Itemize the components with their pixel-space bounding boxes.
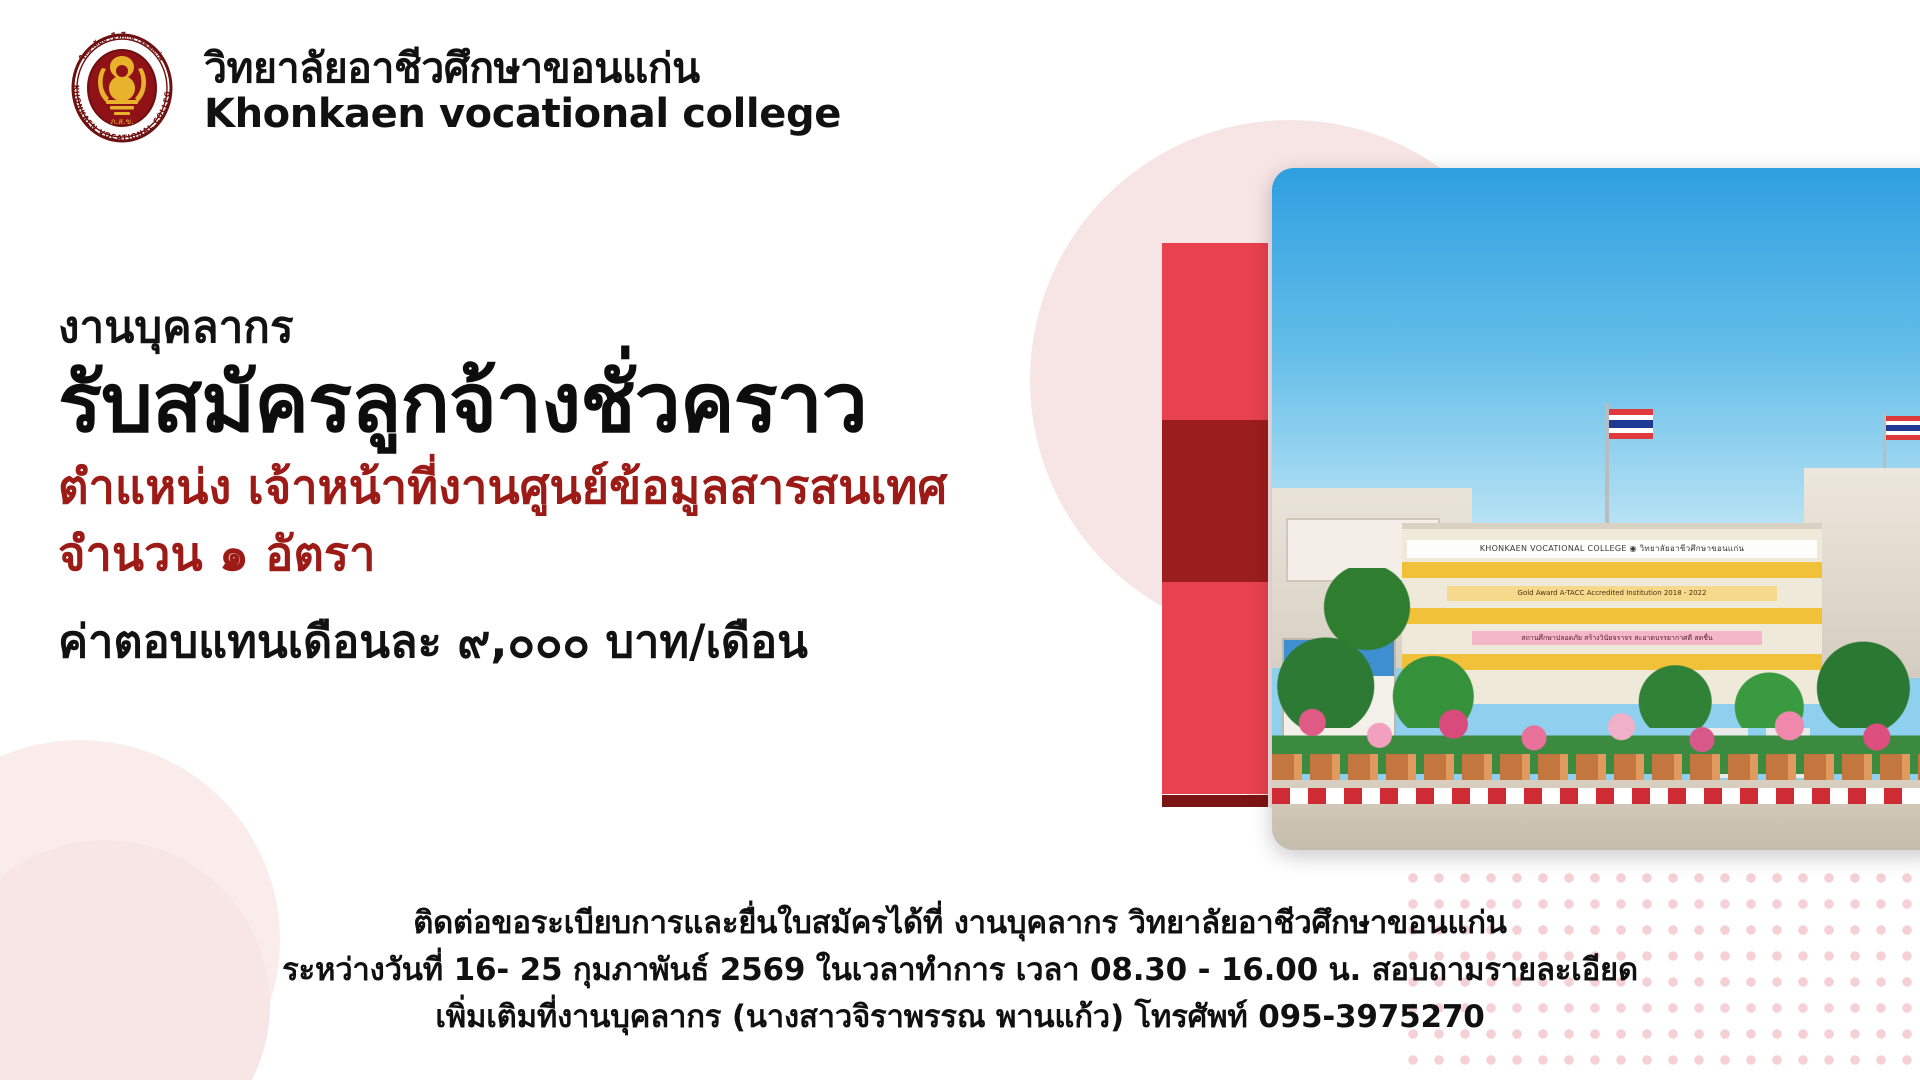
college-seal-icon: วิทยาลัยอาชีวศึกษาขอนแก่น KHONKAEN VOCAT… <box>58 24 186 152</box>
announcement-copy: งานบุคลากร รับสมัครลูกจ้างชั่วคราว ตำแหน… <box>58 300 1218 671</box>
photo-palm-tree <box>1302 568 1432 698</box>
svg-text:ภ.ส.ข.: ภ.ส.ข. <box>110 117 133 126</box>
footer-line-3: เพิ่มเติมที่งานบุคลากร (นางสาวจิราพรรณ พ… <box>0 994 1920 1041</box>
footer-line-2: ระหว่างวันที่ 16- 25 กุมภาพันธ์ 2569 ในเ… <box>0 947 1920 994</box>
department-label: งานบุคลากร <box>58 300 1218 355</box>
position-line: ตำแหน่ง เจ้าหน้าที่งานศูนย์ข้อมูลสารสนเท… <box>58 455 1218 522</box>
poster-root: วิทยาลัยอาชีวศึกษาขอนแก่น KHONKAEN VOCAT… <box>0 0 1920 1080</box>
quantity-line: จำนวน ๑ อัตรา <box>58 522 1218 589</box>
photo-thai-flag-icon <box>1609 409 1653 439</box>
photo-traffic-barrier <box>1272 788 1920 804</box>
campus-photo-card: KHONKAEN VOCATIONAL COLLEGE ◉ วิทยาลัยอา… <box>1272 168 1920 850</box>
photo-banner-gold: Gold Award A-TACC Accredited Institution… <box>1447 586 1777 601</box>
photo-thai-flag-secondary-icon <box>1886 416 1920 440</box>
headline-title: รับสมัครลูกจ้างชั่วคราว <box>58 359 1218 449</box>
contact-footer: ติดต่อขอระเบียบการและยื่นใบสมัครได้ที่ ง… <box>0 900 1920 1041</box>
footer-line-1: ติดต่อขอระเบียบการและยื่นใบสมัครได้ที่ ง… <box>0 900 1920 947</box>
header-title-group: วิทยาลัยอาชีวศึกษาขอนแก่น Khonkaen vocat… <box>204 40 841 135</box>
maroon-accent-bar-foot <box>1162 795 1268 807</box>
college-name-thai: วิทยาลัยอาชีวศึกษาขอนแก่น <box>204 46 841 90</box>
photo-building-stripe-1 <box>1402 562 1822 578</box>
photo-banner-white: KHONKAEN VOCATIONAL COLLEGE ◉ วิทยาลัยอา… <box>1407 540 1817 558</box>
photo-building-stripe-2 <box>1402 608 1822 624</box>
poster-header: วิทยาลัยอาชีวศึกษาขอนแก่น KHONKAEN VOCAT… <box>58 24 841 152</box>
salary-line: ค่าตอบแทนเดือนละ ๙,๐๐๐ บาท/เดือน <box>58 613 1218 672</box>
college-name-english: Khonkaen vocational college <box>204 93 841 136</box>
